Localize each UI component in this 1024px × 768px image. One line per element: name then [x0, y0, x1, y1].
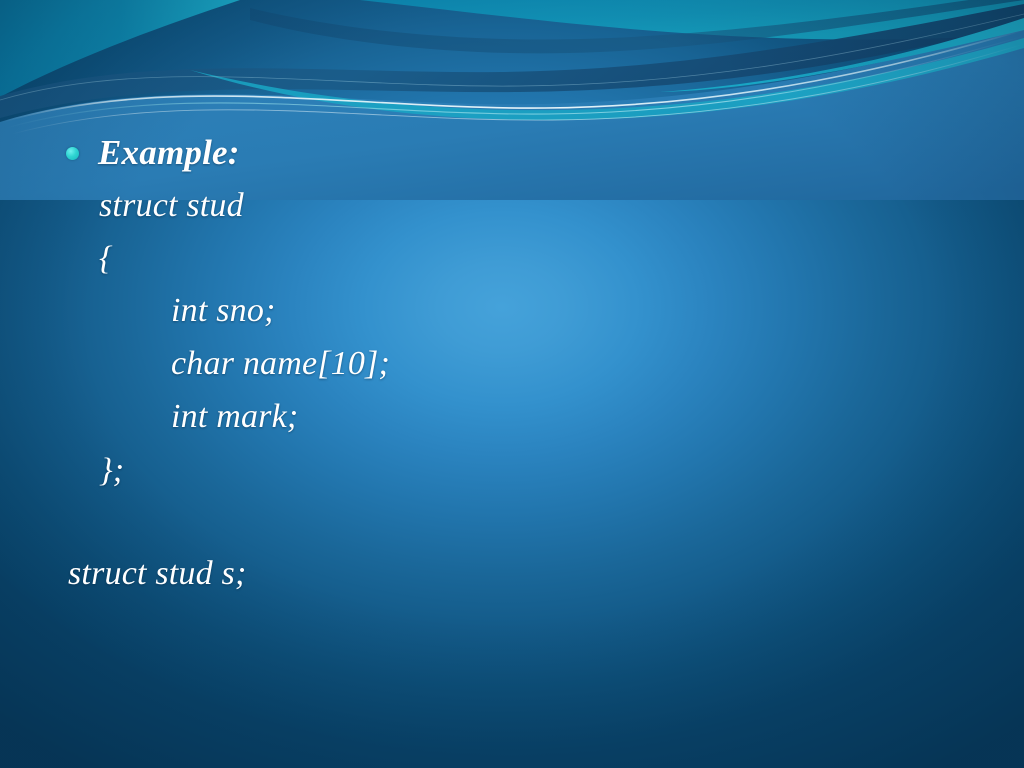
- slide-canvas: Example: struct stud { int sno; char nam…: [0, 0, 1024, 768]
- slide-content: Example: struct stud { int sno; char nam…: [0, 0, 1024, 768]
- code-line-char-name: char name[10];: [171, 347, 390, 381]
- code-line-int-sno: int sno;: [171, 294, 276, 328]
- bullet-dot-icon: [66, 147, 79, 160]
- declaration-struct-stud-s: struct stud s;: [68, 557, 246, 591]
- heading-example: Example:: [98, 135, 240, 170]
- code-line-open-brace: {: [99, 242, 113, 276]
- code-line-struct-stud: struct stud: [99, 189, 244, 223]
- code-line-int-mark: int mark;: [171, 400, 298, 434]
- code-line-close-brace: };: [99, 454, 124, 488]
